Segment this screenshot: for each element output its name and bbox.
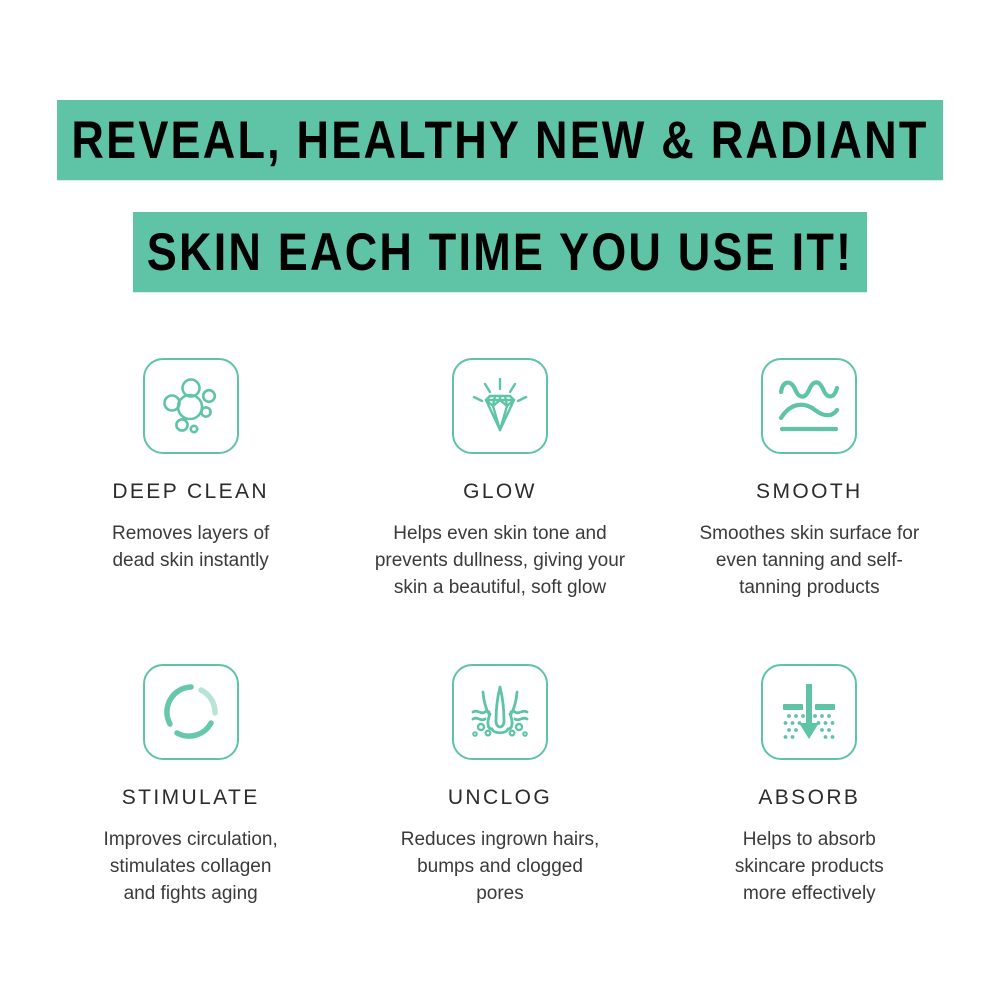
- circulation-arc-icon: [161, 682, 221, 742]
- icon-frame-stimulate: [143, 664, 239, 760]
- feature-title: DEEP CLEAN: [112, 480, 269, 504]
- headline-line-1-text: REVEAL, HEALTHY NEW & RADIANT: [57, 100, 942, 180]
- feature-description: Reduces ingrown hairs, bumps and clogged…: [401, 827, 600, 908]
- feature-glow: GLOW Helps even skin tone and prevents d…: [345, 358, 654, 602]
- feature-stimulate: STIMULATE Improves circulation, stimulat…: [36, 664, 345, 908]
- feature-title: SMOOTH: [756, 480, 863, 504]
- icon-frame-glow: [452, 358, 548, 454]
- feature-title: STIMULATE: [122, 786, 260, 810]
- feature-grid: DEEP CLEAN Removes layers of dead skin i…: [0, 358, 1000, 908]
- headline: REVEAL, HEALTHY NEW & RADIANT SKIN EACH …: [0, 0, 1000, 280]
- feature-description: Helps even skin tone and prevents dullne…: [375, 521, 625, 602]
- headline-line-2-text: SKIN EACH TIME YOU USE IT!: [133, 212, 867, 292]
- icon-frame-absorb: [761, 664, 857, 760]
- diamond-sparkle-icon: [468, 374, 532, 438]
- icon-frame-smooth: [761, 358, 857, 454]
- feature-title: GLOW: [463, 480, 537, 504]
- feature-absorb: ABSORB Helps to absorb skincare products…: [655, 664, 964, 908]
- smooth-waves-icon: [777, 376, 841, 436]
- feature-description: Removes layers of dead skin instantly: [112, 521, 269, 575]
- absorb-arrow-icon: [777, 681, 841, 743]
- feature-smooth: SMOOTH Smoothes skin surface for even ta…: [655, 358, 964, 602]
- feature-unclog: UNCLOG Reduces ingrown hairs, bumps and …: [345, 664, 654, 908]
- feature-title: ABSORB: [758, 786, 860, 810]
- icon-frame-unclog: [452, 664, 548, 760]
- icon-frame-deep-clean: [143, 358, 239, 454]
- headline-line-2: SKIN EACH TIME YOU USE IT!: [0, 212, 1000, 280]
- feature-title: UNCLOG: [448, 786, 552, 810]
- feature-description: Smoothes skin surface for even tanning a…: [700, 521, 920, 602]
- hair-follicle-icon: [468, 681, 532, 743]
- feature-description: Helps to absorb skincare products more e…: [735, 827, 884, 908]
- feature-description: Improves circulation, stimulates collage…: [104, 827, 278, 908]
- feature-deep-clean: DEEP CLEAN Removes layers of dead skin i…: [36, 358, 345, 602]
- bubbles-icon: [159, 374, 223, 438]
- headline-line-1: REVEAL, HEALTHY NEW & RADIANT: [0, 100, 1000, 168]
- skincare-benefits-poster: REVEAL, HEALTHY NEW & RADIANT SKIN EACH …: [0, 0, 1000, 1000]
